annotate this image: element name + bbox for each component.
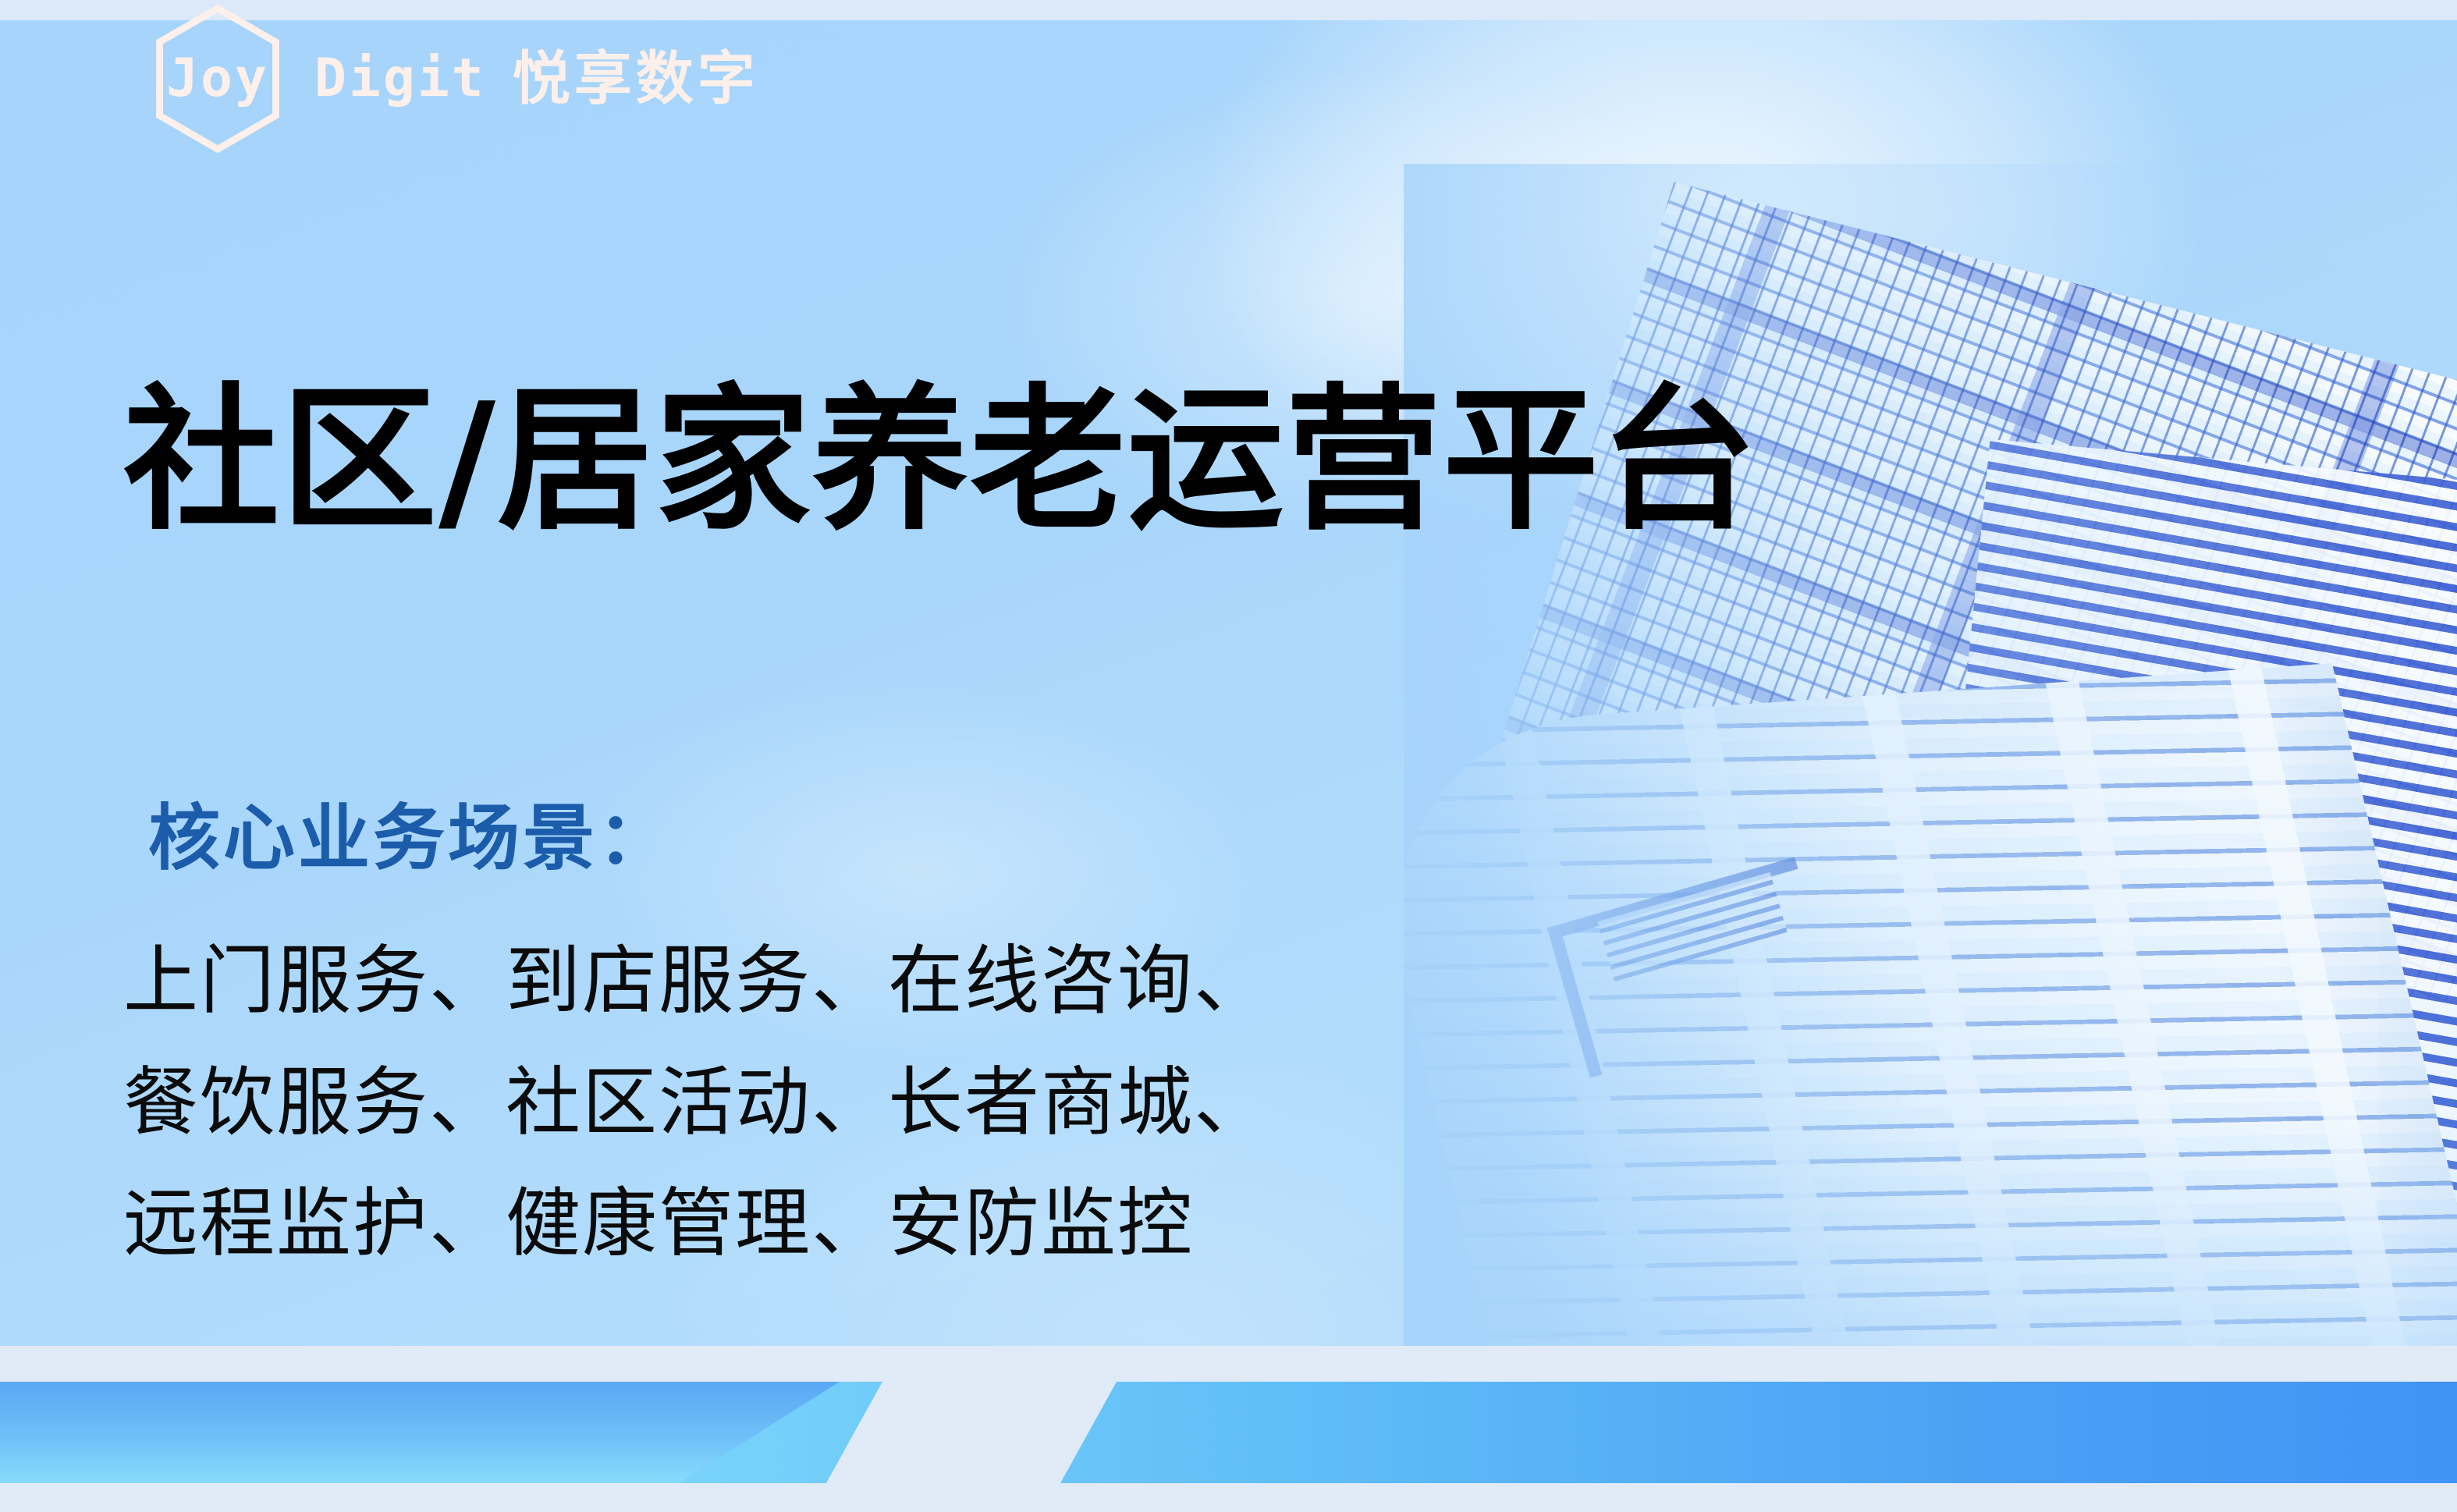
logo-word-joy: Joy [166,52,269,105]
brand-logo: Joy Digit 悦享数字 [137,36,759,122]
scenario-line: 上门服务、到店服务、在线咨询、 [123,921,1645,1042]
logo-chinese-name: 悦享数字 [513,50,759,108]
page-title: 社区/居家养老运营平台 [123,374,1758,548]
slide-root: Joy Digit 悦享数字 社区/居家养老运营平台 核心业务场景： 上门服务、… [0,0,2457,1512]
section-heading: 核心业务场景： [148,780,673,884]
top-edge-strip [0,0,2457,20]
scenario-list: 上门服务、到店服务、在线咨询、 餐饮服务、社区活动、长者商城、 远程监护、健康管… [123,921,1645,1285]
scenario-line: 远程监护、健康管理、安防监控 [123,1163,1645,1285]
footer-decorative-band [0,1346,2457,1512]
logo-word-digit: Digit [314,52,486,105]
logo-mark: Joy [137,36,299,122]
scenario-line: 餐饮服务、社区活动、长者商城、 [123,1042,1645,1164]
